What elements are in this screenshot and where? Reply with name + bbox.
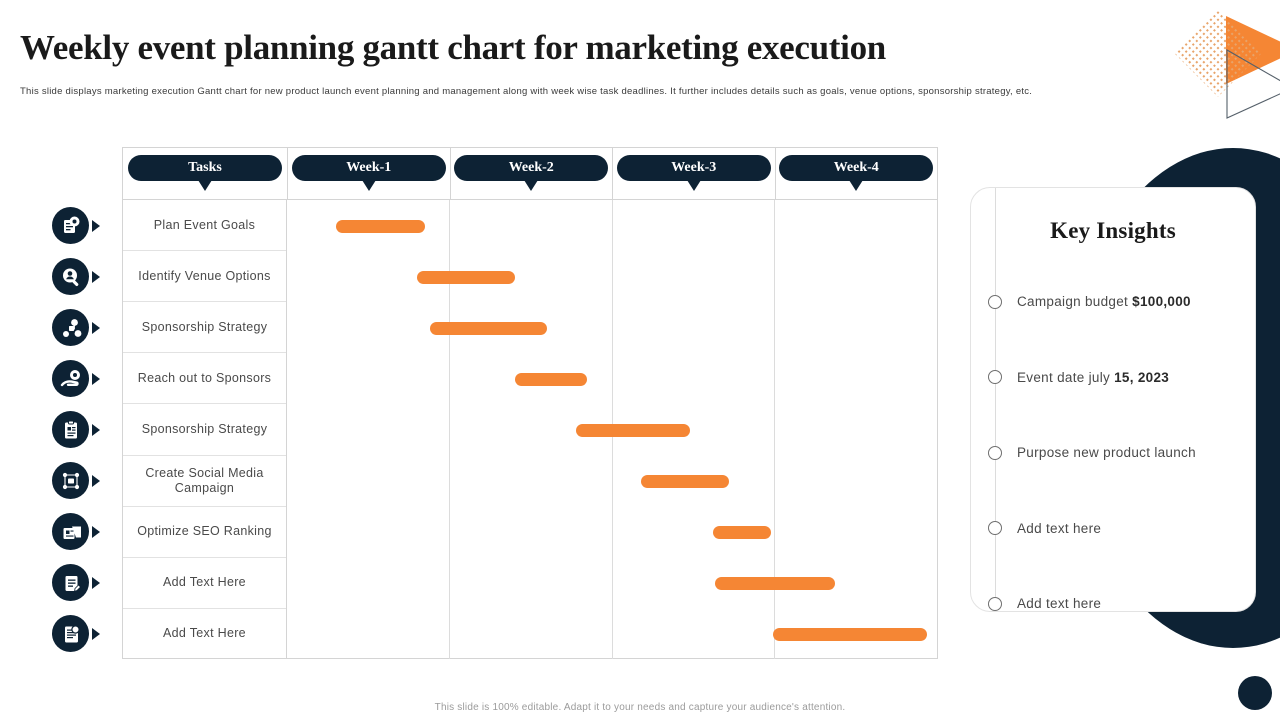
key-insights-card: Key Insights Campaign budget $100,000Eve… bbox=[970, 187, 1256, 612]
triangle-pointer-icon bbox=[92, 271, 100, 283]
triangle-pointer-icon bbox=[92, 475, 100, 487]
insight-list-item: Add text here bbox=[971, 491, 1255, 567]
column-header-week-3: Week-3 bbox=[612, 148, 775, 199]
files-folder-icon bbox=[52, 513, 89, 550]
week-column-2 bbox=[449, 200, 612, 659]
insight-bullet-icon bbox=[988, 295, 1002, 309]
column-header-pill: Week-4 bbox=[779, 155, 933, 181]
triangle-pointer-icon bbox=[92, 220, 100, 232]
insight-list-item: Event date july 15, 2023 bbox=[971, 340, 1255, 416]
triangle-pointer-icon bbox=[92, 424, 100, 436]
insight-bullet-icon bbox=[988, 446, 1002, 460]
document-edit-icon bbox=[52, 564, 89, 601]
task-label-cell: Plan Event Goals bbox=[123, 200, 286, 251]
clipboard-icon bbox=[52, 411, 89, 448]
insight-text-plain: Purpose new product launch bbox=[1017, 445, 1196, 460]
column-header-tasks: Tasks bbox=[123, 148, 287, 199]
document-gear-icon bbox=[52, 207, 89, 244]
task-icon-row bbox=[52, 561, 114, 605]
triangle-pointer-icon bbox=[92, 628, 100, 640]
triangle-pointer-icon bbox=[92, 322, 100, 334]
gantt-body: Plan Event GoalsIdentify Venue OptionsSp… bbox=[123, 200, 937, 659]
task-icon-row bbox=[52, 612, 114, 656]
gantt-chart: TasksWeek-1Week-2Week-3Week-4 Plan Event… bbox=[122, 147, 938, 659]
task-label-cell: Identify Venue Options bbox=[123, 251, 286, 302]
task-label-cell: Add Text Here bbox=[123, 558, 286, 609]
column-header-pill: Week-1 bbox=[292, 155, 446, 181]
key-insights-title: Key Insights bbox=[971, 218, 1255, 244]
insight-text-strong: 15, 2023 bbox=[1114, 370, 1169, 385]
page-subtitle: This slide displays marketing execution … bbox=[20, 86, 1130, 97]
triangle-pointer-icon bbox=[92, 526, 100, 538]
insight-text-plain: Add text here bbox=[1017, 521, 1101, 536]
insight-list-item: Add text here bbox=[971, 566, 1255, 642]
hand-gear-icon bbox=[52, 360, 89, 397]
page-title: Weekly event planning gantt chart for ma… bbox=[20, 28, 886, 68]
task-label-cell: Optimize SEO Ranking bbox=[123, 507, 286, 558]
task-icon-column bbox=[52, 200, 114, 659]
week-column-1 bbox=[287, 200, 449, 659]
task-icon-row bbox=[52, 306, 114, 350]
report-search-icon bbox=[52, 615, 89, 652]
task-icon-row bbox=[52, 357, 114, 401]
column-header-pill: Week-2 bbox=[454, 155, 608, 181]
week-column-3 bbox=[612, 200, 775, 659]
column-header-pill: Week-3 bbox=[617, 155, 771, 181]
column-header-week-2: Week-2 bbox=[450, 148, 613, 199]
insight-text-plain: Add text here bbox=[1017, 596, 1101, 611]
insight-text-plain: Campaign budget bbox=[1017, 294, 1132, 309]
insight-text: Event date july 15, 2023 bbox=[1017, 370, 1169, 385]
week-column-4 bbox=[774, 200, 937, 659]
triangle-pointer-icon bbox=[92, 577, 100, 589]
insight-bullet-icon bbox=[988, 521, 1002, 535]
insight-bullet-icon bbox=[988, 370, 1002, 384]
task-label-cell: Sponsorship Strategy bbox=[123, 302, 286, 353]
task-icon-row bbox=[52, 204, 114, 248]
partnership-icon bbox=[52, 309, 89, 346]
column-header-week-1: Week-1 bbox=[287, 148, 450, 199]
task-label-column: Plan Event GoalsIdentify Venue OptionsSp… bbox=[123, 200, 287, 659]
gantt-header-row: TasksWeek-1Week-2Week-3Week-4 bbox=[123, 148, 937, 200]
column-header-pill: Tasks bbox=[128, 155, 282, 181]
insight-text: Campaign budget $100,000 bbox=[1017, 294, 1191, 309]
insight-text: Add text here bbox=[1017, 521, 1101, 536]
insight-list-item: Purpose new product launch bbox=[971, 415, 1255, 491]
footer-note: This slide is 100% editable. Adapt it to… bbox=[0, 702, 1280, 713]
task-icon-row bbox=[52, 510, 114, 554]
key-insights-list: Campaign budget $100,000Event date july … bbox=[971, 264, 1255, 642]
navy-dot-shape bbox=[1238, 676, 1272, 710]
task-label-cell: Create Social Media Campaign bbox=[123, 456, 286, 507]
triangle-pointer-icon bbox=[92, 373, 100, 385]
insight-bullet-icon bbox=[988, 597, 1002, 611]
insight-text-strong: $100,000 bbox=[1132, 294, 1191, 309]
task-icon-row bbox=[52, 408, 114, 452]
task-icon-row bbox=[52, 255, 114, 299]
insight-text: Add text here bbox=[1017, 596, 1101, 611]
network-nodes-icon bbox=[52, 462, 89, 499]
task-label-cell: Add Text Here bbox=[123, 609, 286, 659]
insight-text: Purpose new product launch bbox=[1017, 445, 1196, 460]
task-label-cell: Reach out to Sponsors bbox=[123, 353, 286, 404]
insight-text-plain: Event date july bbox=[1017, 370, 1114, 385]
task-label-cell: Sponsorship Strategy bbox=[123, 404, 286, 455]
outline-triangle-shape bbox=[1225, 48, 1280, 120]
insight-list-item: Campaign budget $100,000 bbox=[971, 264, 1255, 340]
task-icon-row bbox=[52, 459, 114, 503]
column-header-week-4: Week-4 bbox=[775, 148, 938, 199]
search-person-icon bbox=[52, 258, 89, 295]
